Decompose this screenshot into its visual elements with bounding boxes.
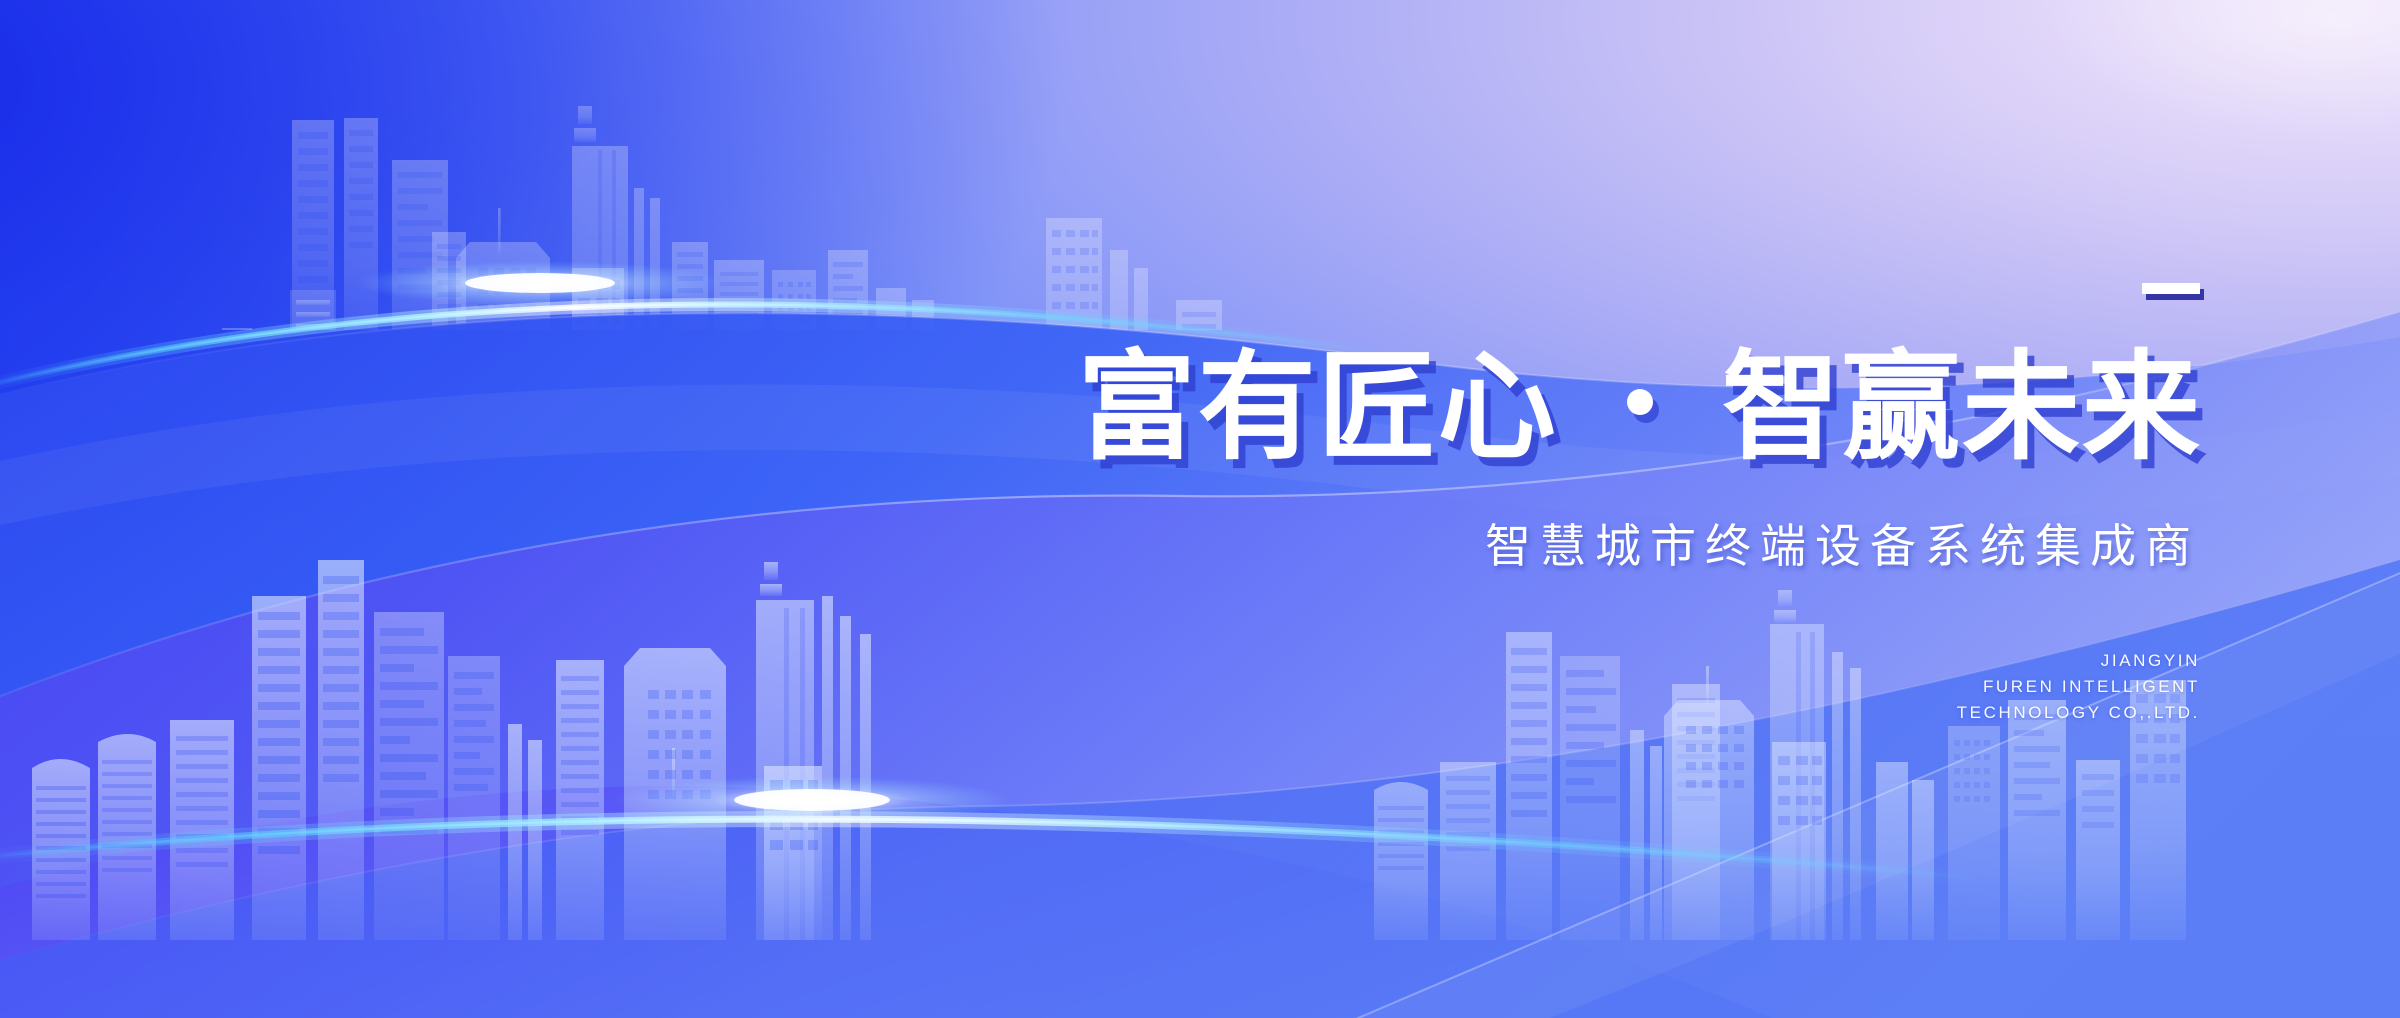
company-line-name: FUREN INTELLIGENT xyxy=(1957,674,2200,700)
headline-left-text: 富有匠心 xyxy=(1078,338,1558,476)
headline-separator-dot xyxy=(1627,389,1653,415)
banner-text-block: 富有匠心 智赢未来 智慧城市终端设备系统集成商 JIANGYIN FUREN I… xyxy=(0,0,2400,1018)
subtitle: 智慧城市终端设备系统集成商 xyxy=(1485,523,2200,569)
company-name-block: JIANGYIN FUREN INTELLIGENT TECHNOLOGY CO… xyxy=(1957,648,2200,725)
headline-right-text: 智赢未来 xyxy=(1722,338,2202,476)
accent-dash-icon xyxy=(2142,283,2200,294)
company-line-city: JIANGYIN xyxy=(1957,648,2200,674)
banner-canvas: 富有匠心 智赢未来 智慧城市终端设备系统集成商 JIANGYIN FUREN I… xyxy=(0,0,2400,1018)
company-line-entity: TECHNOLOGY CO,.LTD. xyxy=(1957,700,2200,726)
headline: 富有匠心 智赢未来 xyxy=(1078,348,2202,466)
